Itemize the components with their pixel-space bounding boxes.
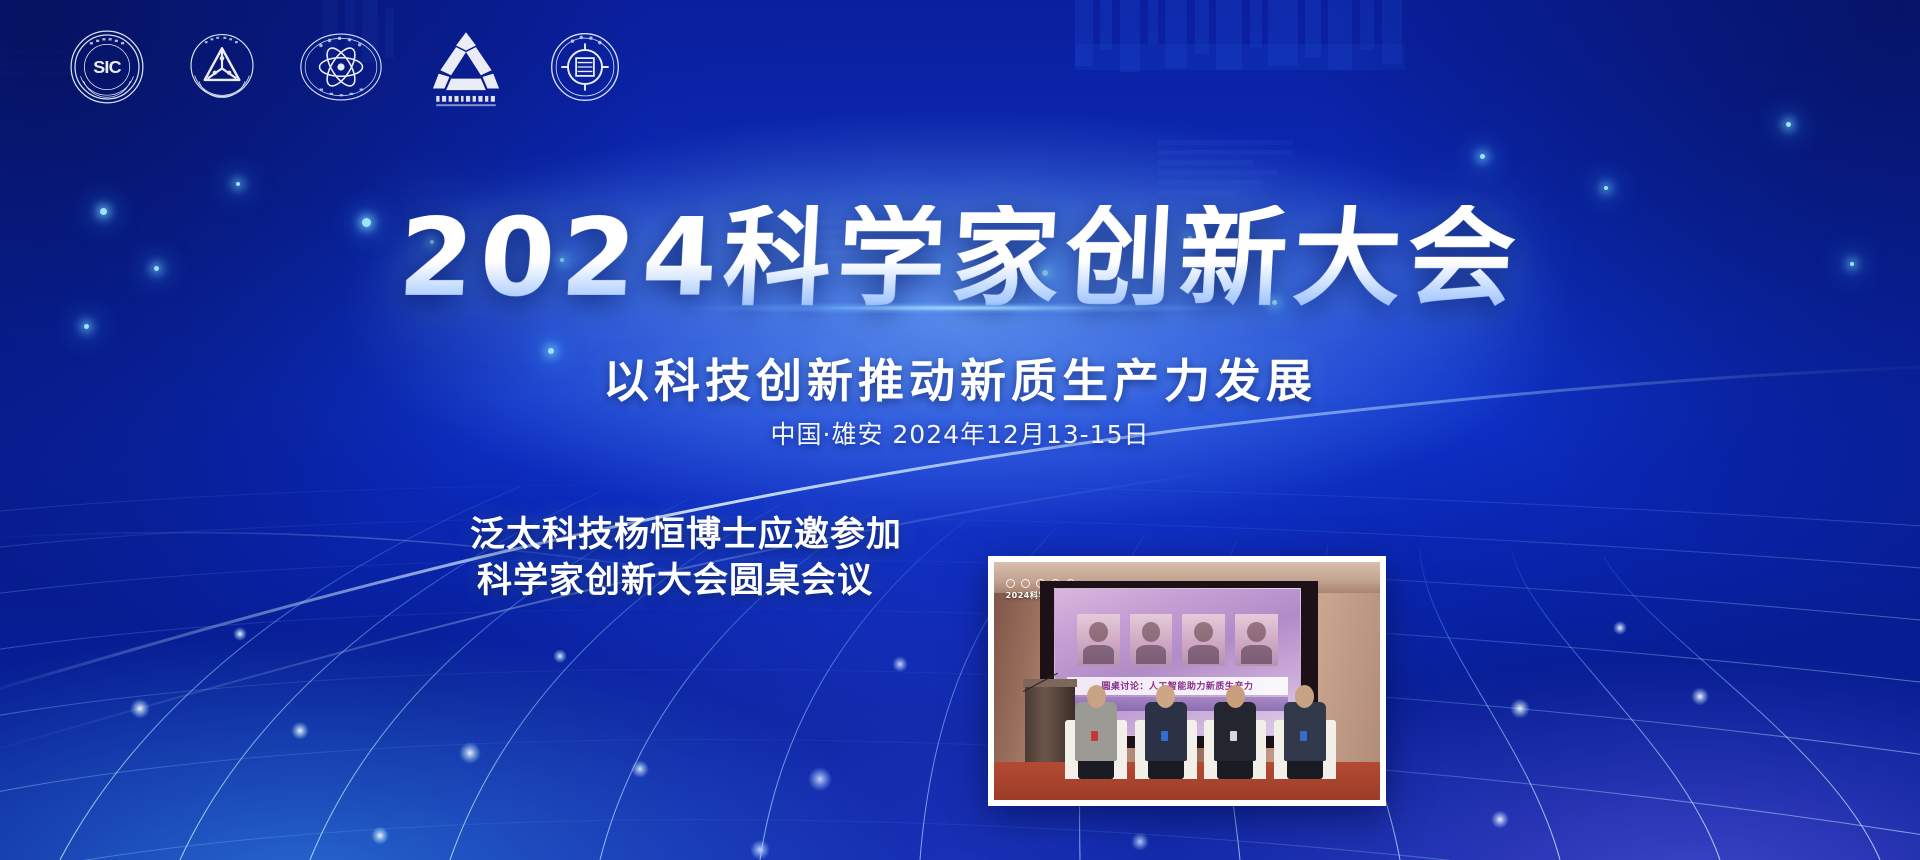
atom-seal-logo [298,31,384,103]
triangle-seal-logo [186,31,258,103]
event-date-location: 中国·雄安 2024年12月13-15日 [0,415,1920,451]
delta-mark-logo [424,24,508,110]
sic-seal-logo: SIC [68,28,146,106]
roundtable-photo: 2024科学家创新大会 圆桌讨论：人工智能助力新质生产力 [994,562,1380,800]
conference-banner: SIC [0,0,1920,860]
photo-panelist [1210,683,1260,778]
caption-line-1: 泛太科技杨恒博士应邀参加 [470,512,880,558]
sponsor-logo-row: SIC [68,24,622,110]
event-main-title: 2024科学家创新大会 [0,205,1920,313]
article-caption: 泛太科技杨恒博士应邀参加 科学家创新大会圆桌会议 [470,512,880,604]
caption-line-2: 科学家创新大会圆桌会议 [470,558,880,604]
event-sub-title: 以科技创新推动新质生产力发展 [0,345,1920,411]
round-emblem-logo [548,30,622,104]
svg-text:SIC: SIC [93,57,121,77]
photo-panelist [1280,683,1330,778]
photo-panelist [1141,683,1191,778]
roundtable-photo-frame: 2024科学家创新大会 圆桌讨论：人工智能助力新质生产力 [988,556,1386,806]
photo-panelist [1071,683,1121,778]
